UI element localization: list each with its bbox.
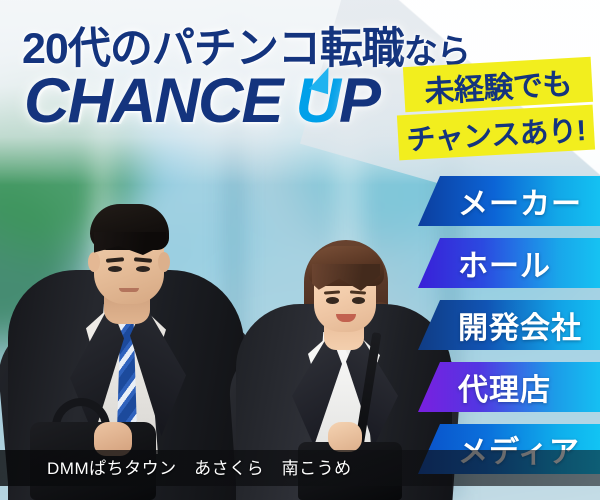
man-ear-left: [88, 252, 100, 272]
man-eye-left: [108, 266, 122, 272]
category-bar-hall-label: ホール: [458, 241, 551, 285]
category-bar-hall[interactable]: ホール: [418, 238, 600, 288]
category-bar-agency-label: 代理店: [458, 365, 551, 409]
badge-no-experience-label: 未経験でも: [423, 58, 573, 110]
man-ear-right: [158, 252, 170, 272]
category-bar-maker-label: メーカー: [458, 179, 582, 223]
man-mouth: [119, 288, 139, 292]
woman-eye-right: [352, 297, 365, 304]
businessman-photo: [8, 140, 244, 500]
logo-up-p-text: P: [339, 66, 379, 136]
category-bar-development-company-label: 開発会社: [458, 303, 582, 347]
man-eye-right: [136, 266, 150, 272]
badge-chance-available-label: チャンスあり!: [405, 107, 586, 159]
woman-eye-left: [326, 297, 339, 304]
woman-hand: [328, 422, 362, 452]
category-bar-maker[interactable]: メーカー: [418, 176, 600, 226]
category-bar-agency[interactable]: 代理店: [418, 362, 600, 412]
credit-text: DMMぱちタウン あさくら 南こうめ: [47, 454, 352, 479]
category-bar-development-company[interactable]: 開発会社: [418, 300, 600, 350]
recruitment-banner[interactable]: 20代のパチンコ転職なら CHANCEUP 未経験でも チャンスあり! メーカー…: [0, 0, 600, 500]
logo-chance-text: CHANCE: [24, 66, 282, 136]
